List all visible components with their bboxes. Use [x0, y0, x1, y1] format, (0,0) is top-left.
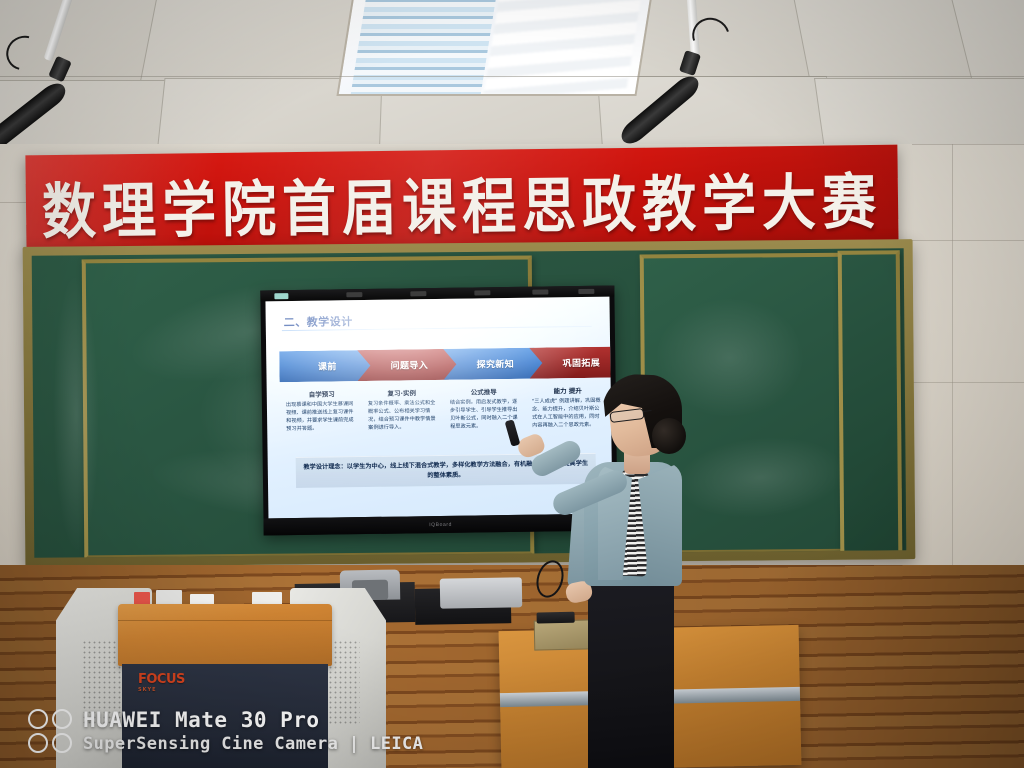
- lectern-brand-logo: FOCUS SKYE: [138, 672, 185, 693]
- chevron-step-2: 问题导入: [357, 349, 461, 381]
- lectern-brand-subtext: SKYE: [138, 687, 185, 693]
- presenter-hair-bun: [652, 418, 686, 454]
- camera-watermark: HUAWEI Mate 30 Pro SuperSensing Cine Cam…: [28, 708, 423, 754]
- ceiling: [0, 0, 1024, 150]
- watermark-line-2: SuperSensing Cine Camera | LEICA: [83, 734, 423, 754]
- column-header-3: 公式推导: [446, 386, 522, 397]
- chevron-step-3: 探究新知: [443, 347, 547, 379]
- lectern-wood-top: [118, 604, 332, 666]
- column-body-2: 复习条件概率、乘法公式和全概率公式、公布相关学习情况，结合预习课件中教学情景案例…: [368, 400, 438, 433]
- column-header-2: 复习·实例: [364, 387, 440, 398]
- classroom-photo-scene: 数理学院首届课程思政教学大赛: [0, 0, 1024, 768]
- watermark-line-1: HUAWEI Mate 30 Pro: [83, 708, 423, 732]
- column-header-1: 自学预习: [284, 388, 360, 399]
- presenter-skirt: [588, 570, 674, 768]
- presenter: [540, 370, 730, 768]
- display-status-led: [274, 293, 288, 299]
- quad-camera-circles-icon: [28, 709, 72, 753]
- ceiling-light-panel: [336, 0, 653, 96]
- printer-device: [440, 577, 523, 608]
- banner-title: 数理学院首届课程思政教学大赛: [41, 152, 882, 251]
- blackboard-panel-far-right: [838, 250, 903, 555]
- slide-title: 二、教学设计: [284, 313, 353, 330]
- column-body-1: 出现慕课和中国大学生慕课网视频、课前推送线上复习课件和视频，并要求学生课前完成预…: [286, 401, 356, 434]
- lectern-brand-text: FOCUS: [138, 672, 185, 687]
- display-brand-label: IQBoard: [429, 521, 452, 527]
